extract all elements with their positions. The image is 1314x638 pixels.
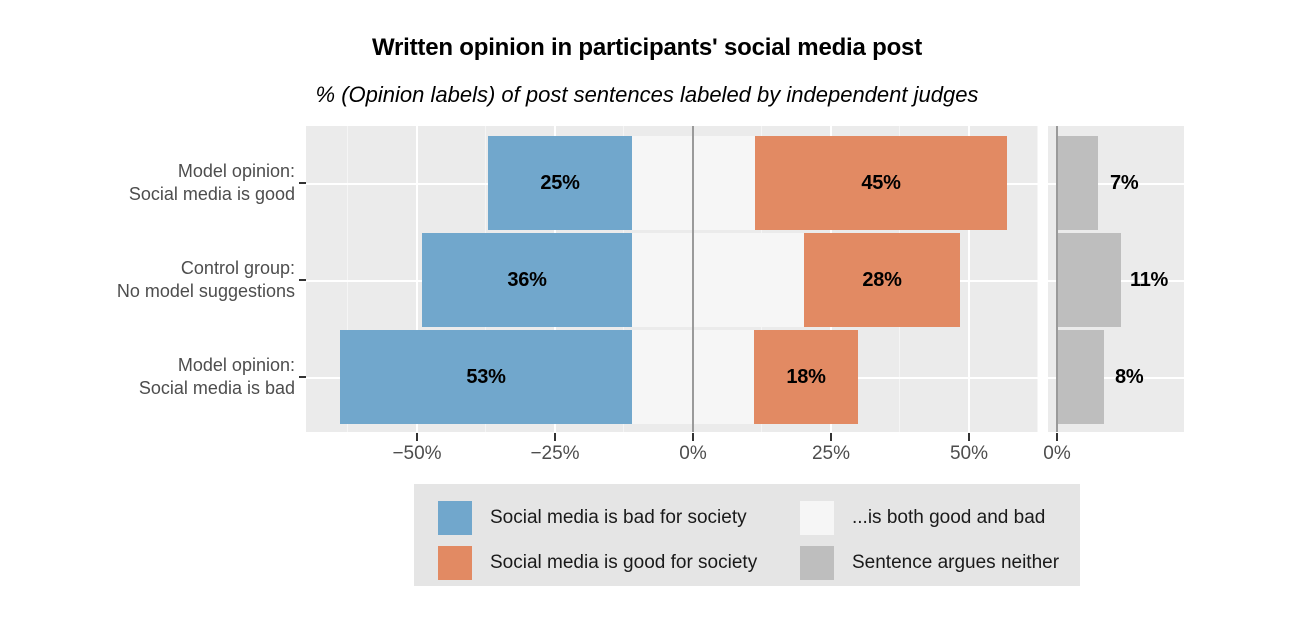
x-axis-tick-25: [830, 433, 832, 441]
bar-row1-neither[interactable]: [1058, 233, 1121, 327]
bar-row0-good[interactable]: 45%: [755, 136, 1007, 230]
bar-row1-bad[interactable]: 36%: [422, 233, 632, 327]
y-axis-label-row1-line1: Control group:: [0, 257, 295, 280]
legend-item-both[interactable]: ...is both good and bad: [800, 501, 1045, 535]
bar-row2-neither[interactable]: [1058, 330, 1104, 424]
bar-row2-both-right[interactable]: [694, 330, 754, 424]
y-axis-label-row1: Control group: No model suggestions: [0, 257, 295, 303]
legend-item-neither[interactable]: Sentence argues neither: [800, 546, 1059, 580]
y-axis-tick-row1: [299, 279, 306, 281]
y-axis-label-row1-line2: No model suggestions: [0, 280, 295, 303]
bar-row0-both[interactable]: [632, 136, 692, 230]
bar-row1-both-right[interactable]: [694, 233, 804, 327]
y-axis-tick-row2: [299, 376, 306, 378]
x-axis-tick--50: [416, 433, 418, 441]
y-axis-label-row0-line2: Social media is good: [0, 183, 295, 206]
x-axis-label-0: 0%: [648, 443, 738, 465]
y-axis-label-row0: Model opinion: Social media is good: [0, 160, 295, 206]
chart-subtitle: % (Opinion labels) of post sentences lab…: [0, 82, 1294, 108]
bar-row2-good[interactable]: 18%: [754, 330, 858, 424]
bar-row0-both-right[interactable]: [694, 136, 755, 230]
legend-key-blue-icon: [438, 501, 472, 535]
y-axis-label-row2: Model opinion: Social media is bad: [0, 354, 295, 400]
legend-item-bad[interactable]: Social media is bad for society: [438, 501, 747, 535]
legend-label-both: ...is both good and bad: [852, 507, 1045, 529]
bar-label-row2-bad: 53%: [466, 366, 505, 389]
main-plot-panel: 25% 45% 36% 28% 53% 18%: [306, 126, 1038, 432]
x-axis-tick-0: [692, 433, 694, 441]
bar-row0-bad[interactable]: 25%: [488, 136, 632, 230]
legend-item-good[interactable]: Social media is good for society: [438, 546, 757, 580]
bar-row1-good[interactable]: 28%: [804, 233, 960, 327]
bar-row2-both[interactable]: [632, 330, 692, 424]
bar-label-row1-bad: 36%: [507, 269, 546, 292]
bar-row0-neither[interactable]: [1058, 136, 1098, 230]
x-axis-tick--25: [554, 433, 556, 441]
chart-canvas: Written opinion in participants' social …: [0, 0, 1314, 638]
x-axis-label--25: −25%: [510, 443, 600, 465]
gridline-minor-6: [1037, 126, 1038, 432]
bar-label-row2-good: 18%: [786, 366, 825, 389]
legend-label-neither: Sentence argues neither: [852, 552, 1059, 574]
bar-row2-bad[interactable]: 53%: [340, 330, 632, 424]
chart-title: Written opinion in participants' social …: [0, 34, 1294, 62]
side-x-axis-label-0: 0%: [1012, 443, 1102, 465]
y-axis-tick-row0: [299, 182, 306, 184]
x-axis-tick-50: [968, 433, 970, 441]
x-axis-label-50: 50%: [924, 443, 1014, 465]
legend: Social media is bad for society ...is bo…: [414, 484, 1080, 586]
y-axis-label-row2-line2: Social media is bad: [0, 377, 295, 400]
legend-key-white-icon: [800, 501, 834, 535]
bar-label-row1-good: 28%: [862, 269, 901, 292]
y-axis-label-row2-line1: Model opinion:: [0, 354, 295, 377]
y-axis-label-row0-line1: Model opinion:: [0, 160, 295, 183]
x-axis-label--50: −50%: [372, 443, 462, 465]
bar-label-row0-bad: 25%: [540, 172, 579, 195]
bar-label-row0-good: 45%: [861, 172, 900, 195]
x-axis-label-25: 25%: [786, 443, 876, 465]
legend-key-grey-icon: [800, 546, 834, 580]
side-x-axis-tick-0: [1056, 433, 1058, 441]
legend-key-orange-icon: [438, 546, 472, 580]
bar-row1-both[interactable]: [632, 233, 692, 327]
legend-label-good: Social media is good for society: [490, 552, 757, 574]
legend-label-bad: Social media is bad for society: [490, 507, 747, 529]
